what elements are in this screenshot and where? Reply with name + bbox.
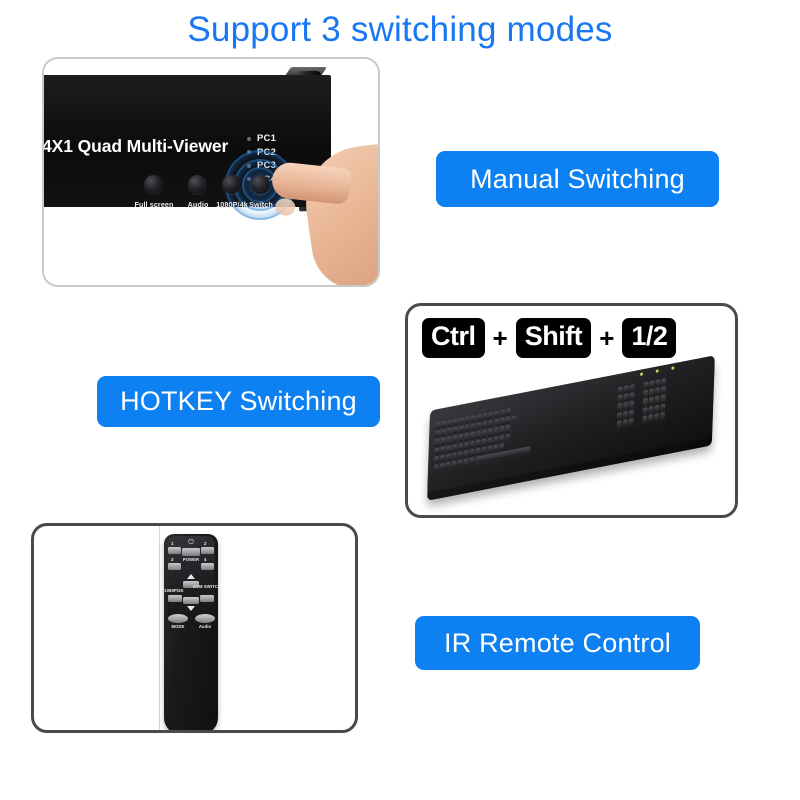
ir-remote-image: ⏻ POWER 1 2 3 4 1080P/4K KVM SWITCH MODE… [34,526,355,730]
keyboard-key [499,434,504,442]
badge-hotkey-switching: HOTKEY Switching [97,376,380,427]
keyboard-key [648,405,653,413]
remote-button-power[interactable] [182,548,200,556]
keyboard-key [649,389,654,397]
keyboard-key [482,421,487,429]
remote-label-resolution: 1080P/4K [164,588,183,593]
keyboard-key [488,420,493,428]
device-photo-panel: 4X1 Quad Multi-Viewer PC1 PC2 PC3 PC4 [42,57,380,287]
keyboard-key [464,441,469,449]
keyboard-key [453,427,458,435]
remote-label-kvm-switch: KVM SWITCH [193,584,221,589]
keyboard-key [500,418,505,426]
keyboard-key [660,403,665,411]
remote-label-power: POWER [183,557,199,562]
keyboard-key [471,415,476,423]
remote-label-mode: MODE [172,624,185,629]
keyboard-key [476,431,481,439]
keyboard-key [441,438,446,446]
keyboard-key [446,436,451,444]
remote-button-resolution[interactable] [168,595,182,602]
keyboard-key [494,410,499,418]
keyboard-key [469,449,474,457]
keyboard-key [629,392,634,400]
keyboard-key-field [433,364,708,483]
keyboard-key [453,418,458,426]
fingertip-shape [270,161,351,205]
device-button-resolution[interactable] [222,175,241,194]
keyboard-key [458,451,463,459]
device-button-label-switch: Switch [249,200,273,209]
keyboard-key [451,460,456,468]
hand-shape [299,140,380,287]
keyboard-key [512,415,517,423]
hotkey-combination: Ctrl + Shift + 1/2 [422,318,676,358]
keyboard-key [434,455,439,463]
keyboard-key [624,385,629,393]
keyboard-key [618,386,623,394]
keyboard-key [506,408,511,416]
keyboard-key [447,428,452,436]
remote-number-4: 4 [204,557,206,562]
keyboard-key [464,425,469,433]
keyboard-photo-panel: Ctrl + Shift + 1/2 [405,303,738,518]
device-button-label-resolution: 1080P/4k [216,200,248,209]
keyboard-key [465,416,470,424]
keyboard-key [435,439,440,447]
keyboard-key [494,419,499,427]
keyboard-key [487,445,492,453]
page-title: Support 3 switching modes [0,8,800,52]
keycap-number: 1/2 [622,318,676,358]
arrow-up-icon [187,574,195,579]
badge-manual-switching: Manual Switching [436,151,719,207]
remote-number-1: 1 [171,541,173,546]
keyboard-key [470,423,475,431]
keyboard-key [623,410,628,418]
keyboard-key [642,407,647,415]
keyboard-key [446,445,451,453]
keyboard-key [475,447,480,455]
keyboard-key [617,412,622,420]
led-indicator-icon [247,137,251,141]
device-button-audio[interactable] [188,175,207,194]
keyboard-image [418,364,731,514]
keyboard-key [494,427,499,435]
keyboard-key [482,413,487,421]
remote-button-down[interactable] [183,597,199,604]
remote-button-2[interactable] [201,547,214,554]
keyboard-key [459,417,464,425]
keyboard-key [464,450,469,458]
keyboard-key [440,454,445,462]
keyboard-key [481,446,486,454]
keyboard-key [435,422,440,430]
keyboard-key [500,409,505,417]
pointing-hand-icon [272,137,380,287]
remote-button-mode[interactable] [168,614,188,623]
keyboard-key [623,394,628,402]
remote-button-audio[interactable] [195,614,215,623]
keyboard-key [617,420,622,428]
keyboard-key [459,426,464,434]
device-model-label: 4X1 Quad Multi-Viewer [42,136,228,157]
remote-button-kvm-switch[interactable] [200,595,214,602]
keyboard-key [470,432,475,440]
keyboard-key [629,401,634,409]
remote-button-4[interactable] [201,563,214,570]
keyboard-key [452,435,457,443]
keyboard-key [440,463,445,471]
keyboard-key [488,412,493,420]
keyboard-key [661,378,666,386]
remote-label-audio: Audio [199,624,211,629]
keyboard-key [629,409,634,417]
keyboard-key [628,418,633,426]
keyboard-key [452,444,457,452]
keyboard-key [617,403,622,411]
keyboard-key [446,453,451,461]
keyboard-key [441,421,446,429]
keyboard-key [440,446,445,454]
keyboard-key [482,438,487,446]
keyboard-key [643,390,648,398]
keyboard-key [434,464,439,472]
keyboard-key [487,437,492,445]
keyboard-key [654,404,659,412]
keyboard-key [476,422,481,430]
device-button-switch[interactable] [251,175,270,194]
keyboard-key [476,414,481,422]
keyboard-key [499,426,504,434]
keyboard-key [648,414,653,422]
keyboard-key [493,444,498,452]
keyboard-key [464,433,469,441]
keyboard-key [476,439,481,447]
keyboard-key [506,416,511,424]
keyboard-key [463,458,468,466]
remote-button-1[interactable] [168,547,181,554]
keyboard-key [660,395,665,403]
keyboard-key [655,387,660,395]
device-button-label-audio: Audio [188,200,209,209]
keyboard-key [505,433,510,441]
keyboard-key [505,425,510,433]
keyboard-key [618,395,623,403]
keyboard-key [655,396,660,404]
keyboard-key [661,386,666,394]
keyboard-key [469,457,474,465]
keyboard-key [441,429,446,437]
keyboard-key [660,412,665,420]
photo-seam-line [159,526,160,733]
keyboard-key [630,384,635,392]
multi-viewer-device-image: 4X1 Quad Multi-Viewer PC1 PC2 PC3 PC4 [44,59,378,285]
plus-separator-icon: + [493,325,508,351]
keyboard-key [458,434,463,442]
keyboard-key [452,452,457,460]
keycap-shift: Shift [516,318,592,358]
remote-number-2: 2 [204,541,206,546]
device-button-fullscreen[interactable] [144,175,163,194]
remote-photo-panel: ⏻ POWER 1 2 3 4 1080P/4K KVM SWITCH MODE… [31,523,358,733]
keyboard-key [435,430,440,438]
keyboard-key [643,398,648,406]
keyboard-key [655,379,660,387]
keyboard-key [499,443,504,451]
keyboard-key [488,428,493,436]
badge-ir-remote-control: IR Remote Control [415,616,700,670]
remote-number-3: 3 [171,557,173,562]
keyboard-key [654,413,659,421]
keyboard-key [649,380,654,388]
keyboard-key [446,462,451,470]
arrow-down-icon [187,606,195,611]
keyboard-key [643,381,648,389]
keyboard-key [470,440,475,448]
keycap-ctrl: Ctrl [422,318,485,358]
keyboard-key [434,447,439,455]
keyboard-key [457,459,462,467]
keyboard-key [493,436,498,444]
remote-button-3[interactable] [168,563,181,570]
device-button-label-fullscreen: Full screen [134,200,173,209]
keyboard-key [649,397,654,405]
keyboard-key [482,429,487,437]
keyboard-key [623,402,628,410]
plus-separator-icon: + [599,325,614,351]
keyboard-key [447,420,452,428]
keyboard-key [458,442,463,450]
keyboard-key [623,419,628,427]
keyboard-key [642,415,647,423]
fingernail-shape [275,197,297,216]
power-glyph-icon: ⏻ [188,539,194,547]
